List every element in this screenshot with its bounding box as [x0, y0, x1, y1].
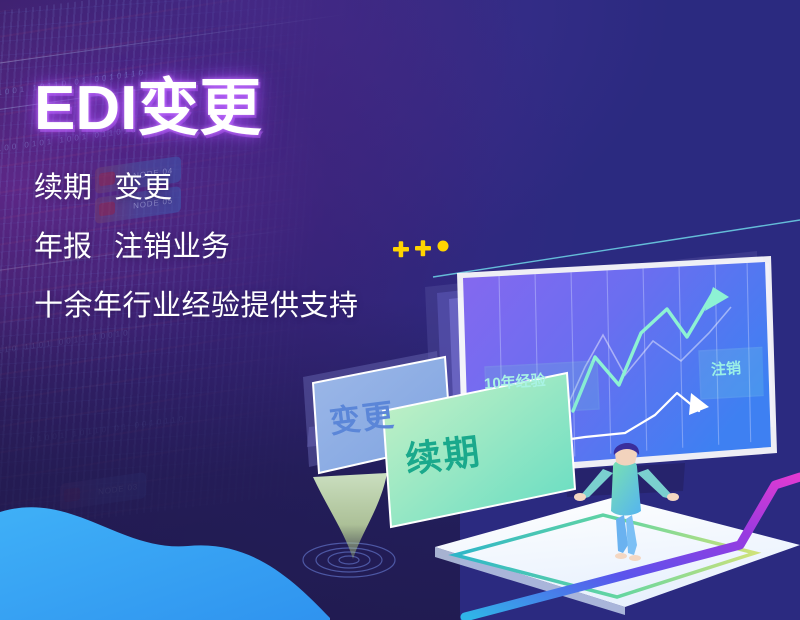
subtitle-line-1: 续期变更 [34, 174, 464, 203]
experience-label: 10年经验 [483, 369, 546, 394]
change-card-label: 变更 [327, 389, 398, 442]
blue-wave-shape [0, 470, 330, 620]
binary-row: 01001 10110 01 0010110 [30, 400, 280, 444]
subtitle-1-a: 续期 [34, 172, 92, 204]
subtitle-2-a: 年报 [34, 231, 92, 263]
poster-canvas: 01001 10110 01 0010110 1100 0101 1001 01… [0, 0, 800, 620]
monitor-illustration: 10年经验 注销 变更 续期 [285, 215, 800, 620]
cancel-label: 注销 [710, 357, 741, 380]
plus-decorations [393, 240, 449, 257]
subtitle-1-b: 变更 [114, 172, 172, 204]
renew-card-label: 续期 [402, 423, 484, 484]
scanline [0, 14, 348, 68]
subtitle-2-b: 注销业务 [114, 231, 230, 263]
page-title: EDI变更 [34, 78, 464, 140]
ripple-rings [303, 543, 395, 577]
